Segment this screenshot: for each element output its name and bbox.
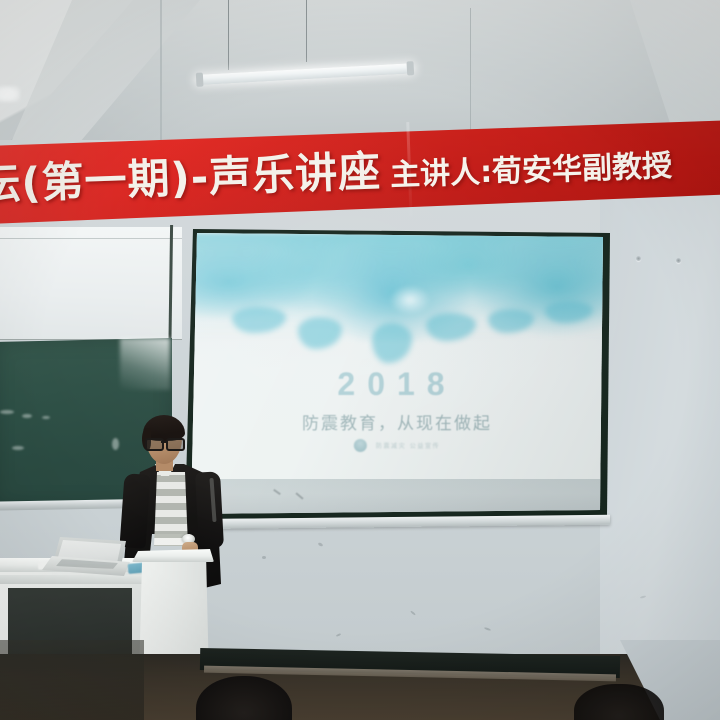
wall-panel-left: [0, 227, 182, 340]
podium-top-surface: [132, 549, 214, 562]
slide-logo-mark-icon: [354, 439, 367, 452]
glasses-lens-left: [145, 438, 164, 451]
banner-row: 坛(第一期)-声乐讲座 主讲人:荀安华副教授: [0, 128, 673, 213]
glasses-lens-right: [166, 438, 185, 451]
presentation-slide: 2018 防震教育，从现在做起 防震减灾 公益宣传: [191, 233, 603, 480]
wall-screw-right: [676, 258, 681, 263]
banner-speaker-text: 主讲人:荀安华副教授: [389, 141, 672, 195]
table-apron: [0, 575, 146, 584]
lecture-hall-photo: 2018 防震教育，从现在做起 防震减灾 公益宣传 坛(第一期)-声乐讲座 主讲…: [0, 0, 720, 720]
wash-drip-3: [372, 323, 412, 363]
wall-mark-1: [262, 556, 266, 559]
banner-title-text: 坛(第一期)-声乐讲座: [0, 138, 382, 213]
tube-cap-right: [406, 61, 414, 75]
chalk-mark-4: [12, 446, 24, 450]
screen-lower-apron: [191, 479, 603, 514]
corner-light-glow: [0, 86, 20, 102]
right-wall: [600, 150, 720, 670]
light-wire-left: [228, 0, 229, 70]
foreground-chair-shadow: [0, 640, 144, 720]
slide-year-text: 2018: [191, 366, 603, 403]
projector-screen: 2018 防震教育，从现在做起 防震减灾 公益宣传: [191, 233, 603, 514]
presenter-left-arm: [119, 473, 150, 549]
blackboard-erased-area: [120, 338, 170, 390]
presenter-glasses-icon: [145, 438, 183, 448]
chalk-mark-3: [42, 416, 50, 419]
wall-screw-left: [636, 256, 641, 261]
apron-mark-2: [295, 492, 303, 499]
apron-mark-1: [273, 489, 281, 495]
wash-drip-2: [298, 317, 342, 349]
chalk-mark-1: [0, 410, 14, 414]
tube-cap-left: [196, 73, 204, 87]
slide-subtitle-text: 防震教育，从现在做起: [191, 409, 603, 434]
chalk-mark-2: [22, 414, 32, 418]
light-wire-right: [306, 0, 307, 62]
slide-logo-text: 防震减灾 公益宣传: [376, 441, 440, 450]
wash-highlight: [389, 285, 431, 315]
slide-logo: 防震减灾 公益宣传: [354, 439, 440, 452]
